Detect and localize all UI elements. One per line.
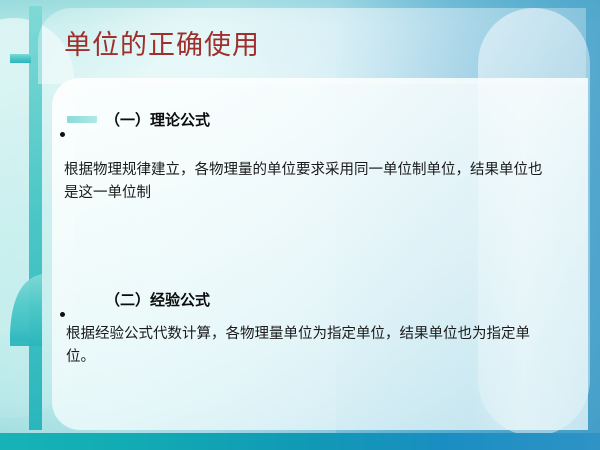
list-item[interactable]: （二）经验公式 [59,290,210,310]
list-item-label: （一）理论公式 [105,110,210,130]
slide-body: （一）理论公式 根据物理规律建立，各物理量的单位要求采用同一单位制单位，结果单位… [0,0,600,450]
paragraph-theory-formula: 根据物理规律建立，各物理量的单位要求采用同一单位制单位，结果单位也是这一单位制 [64,159,556,205]
list-item[interactable]: （一）理论公式 [59,110,210,130]
paragraph-empirical-formula: 根据经验公式代数计算，各物理量单位为指定单位，结果单位也为指定单位。 [66,323,552,369]
list-item-label: （二）经验公式 [105,290,210,310]
bottom-accent-band [0,433,600,450]
bullet-tab-accent [67,116,97,123]
presentation-slide: 单位的正确使用 （一）理论公式 根据物理规律建立，各物理量的单位要求采用同一单位… [0,0,600,450]
